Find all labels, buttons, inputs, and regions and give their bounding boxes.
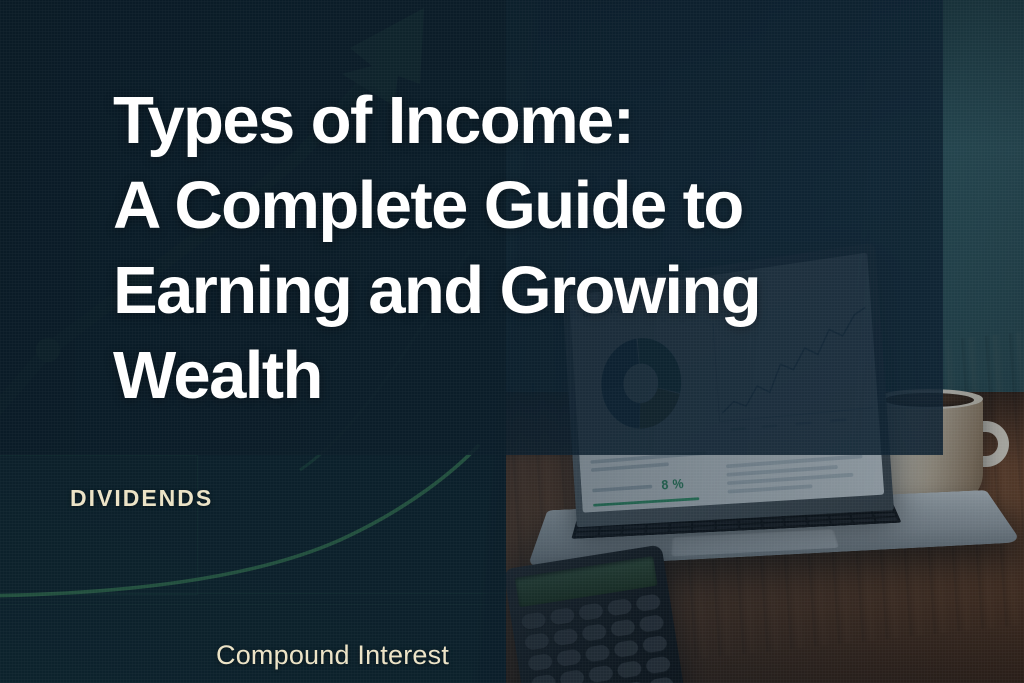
metric-caption [592,484,652,492]
title-line-4: Wealth [113,333,943,418]
calculator [504,544,685,683]
title-line-3: Earning and Growing [113,248,943,333]
metric-value: 8 % [661,476,684,493]
kicker-label: DIVIDENDS [70,485,213,512]
calculator-keypad [521,593,675,683]
metric-progress-bar [593,497,699,506]
metric-block: 8 % [592,474,715,507]
page-title: Types of Income: A Complete Guide to Ear… [113,78,943,418]
hero-banner: ortfolio [0,0,1024,683]
title-line-1: Types of Income: [113,78,943,163]
footnote-label: Compound Interest [216,640,449,671]
title-line-2: A Complete Guide to [113,163,943,248]
laptop-trackpad [671,528,839,556]
